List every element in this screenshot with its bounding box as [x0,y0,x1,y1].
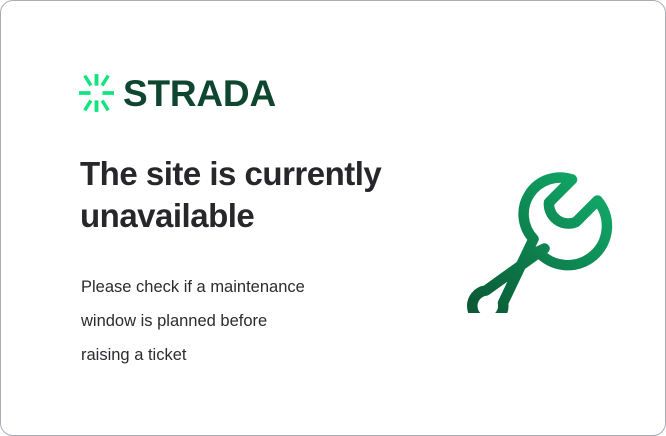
description-line: raising a ticket [81,339,391,373]
brand-lockup: STRADA [79,71,276,115]
description-line: Please check if a maintenance [81,271,391,305]
strada-asterisk-icon [79,74,114,112]
description-line: window is planned before [81,305,391,339]
brand-wordmark: STRADA [123,75,276,112]
wrench-outline [472,178,607,313]
strada-asterisk-arms [79,74,114,112]
wrench-icon [456,153,616,313]
page-title: The site is currently unavailable [80,153,410,236]
page-description: Please check if a maintenance window is … [81,271,391,372]
maintenance-notice-card: STRADA The site is currently unavailable… [0,0,666,436]
